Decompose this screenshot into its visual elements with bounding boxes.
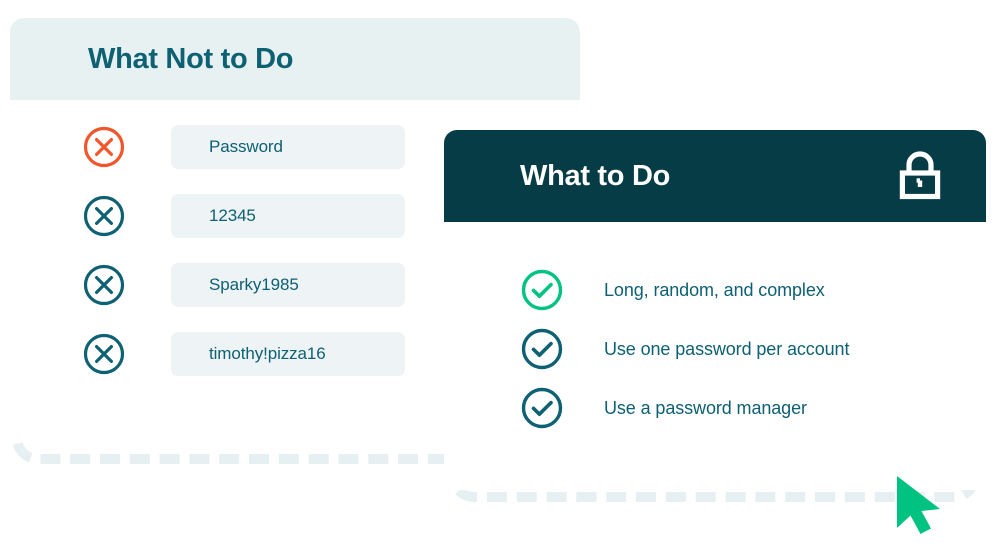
lock-icon xyxy=(896,150,944,202)
what-not-to-do-header: What Not to Do xyxy=(10,18,580,100)
bad-password-row: Sparky1985 xyxy=(82,263,405,307)
x-circle-icon xyxy=(82,332,126,376)
bad-password-row: 12345 xyxy=(82,194,405,238)
check-circle-icon xyxy=(520,268,564,312)
bad-password-value: timothy!pizza16 xyxy=(209,344,326,364)
bad-password-row: Password xyxy=(82,125,405,169)
good-practice-row: Use a password manager xyxy=(520,386,807,430)
good-practice-label: Long, random, and complex xyxy=(604,280,825,301)
what-not-to-do-title: What Not to Do xyxy=(88,43,293,76)
what-to-do-body: Long, random, and complex Use one passwo… xyxy=(444,222,986,490)
x-circle-icon xyxy=(82,194,126,238)
good-practice-label: Use one password per account xyxy=(604,339,849,360)
bad-password-value: Sparky1985 xyxy=(209,275,299,295)
bad-password-field[interactable]: Sparky1985 xyxy=(171,263,405,307)
bad-password-field[interactable]: timothy!pizza16 xyxy=(171,332,405,376)
x-circle-icon xyxy=(82,125,126,169)
good-practice-label: Use a password manager xyxy=(604,398,807,419)
illustration-canvas: What Not to Do Password xyxy=(0,0,1000,550)
what-to-do-header: What to Do xyxy=(444,130,986,222)
good-practice-row: Use one password per account xyxy=(520,327,849,371)
bad-password-value: Password xyxy=(209,137,283,157)
good-practice-row: Long, random, and complex xyxy=(520,268,825,312)
bad-password-field[interactable]: 12345 xyxy=(171,194,405,238)
check-circle-icon xyxy=(520,327,564,371)
check-circle-icon xyxy=(520,386,564,430)
what-to-do-title: What to Do xyxy=(520,160,670,193)
bad-password-value: 12345 xyxy=(209,206,256,226)
what-to-do-card: What to Do Long, random, and co xyxy=(444,130,986,490)
bad-password-field[interactable]: Password xyxy=(171,125,405,169)
x-circle-icon xyxy=(82,263,126,307)
bad-password-row: timothy!pizza16 xyxy=(82,332,405,376)
